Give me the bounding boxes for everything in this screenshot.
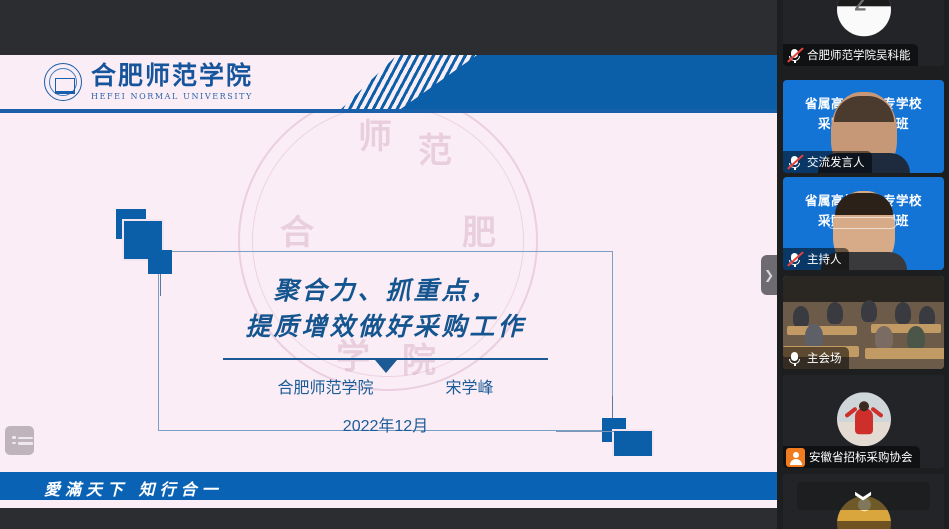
participant-name: 合肥师范学院吴科能	[807, 47, 911, 63]
participant-nametag: 主会场	[783, 347, 849, 369]
avatar	[837, 392, 891, 446]
avatar: Z	[837, 0, 891, 36]
list-icon[interactable]	[5, 426, 34, 455]
mic-muted-icon	[786, 47, 803, 64]
user-orange-icon	[786, 448, 805, 467]
chevron-down-icon[interactable]: ❯	[854, 489, 874, 502]
watermark-char: 合	[280, 205, 314, 254]
university-logo: 合肥师范学院 HEFEI NORMAL UNIVERSITY	[44, 63, 253, 101]
participant-tile[interactable]: 主会场	[783, 276, 944, 369]
conference-screen: 合肥师范学院 HEFEI NORMAL UNIVERSITY 师 范 合 肥 学…	[0, 0, 949, 529]
slide-footer: 愛滿天下 知行合一	[0, 456, 777, 508]
slide-title-block: 聚合力、抓重点， 提质增效做好采购工作 合肥师范学院 宋学峰 2022年12月	[158, 273, 613, 436]
participant-name: 主持人	[807, 251, 842, 267]
university-seal-icon	[44, 63, 82, 101]
mic-muted-icon	[786, 154, 803, 171]
presenter-org: 合肥师范学院	[277, 374, 373, 398]
title-divider	[223, 358, 548, 360]
presenter-name: 宋学峰	[446, 374, 494, 398]
participant-nametag: 交流发言人	[783, 151, 872, 173]
footer-bar: 愛滿天下 知行合一	[0, 472, 777, 500]
presentation-slide: 合肥师范学院 HEFEI NORMAL UNIVERSITY 师 范 合 肥 学…	[0, 55, 777, 508]
slide-body: 师 范 合 肥 学 院	[0, 113, 777, 456]
participant-tile[interactable]: 省属高校和中专学校 采购业务培训班 交流发言人	[783, 80, 944, 173]
presentation-date: 2022年12月	[158, 412, 613, 436]
mic-muted-icon	[786, 251, 803, 268]
participant-tile[interactable]: 安徽省招标采购协会	[783, 375, 944, 468]
footer-motto: 愛滿天下 知行合一	[44, 476, 223, 500]
participant-nametag: 合肥师范学院吴科能	[783, 44, 918, 66]
mic-icon	[786, 350, 803, 367]
university-name-en: HEFEI NORMAL UNIVERSITY	[91, 92, 253, 101]
deco-square	[614, 431, 652, 456]
slide-title-line-2: 提质增效做好采购工作	[158, 309, 613, 345]
watermark-char: 师	[358, 113, 392, 158]
participant-nametag: 安徽省招标采购协会	[783, 446, 920, 468]
participant-nametag: 主持人	[783, 248, 849, 270]
participant-tile[interactable]: 省属高校和中专学校 采购业务培训班 主持人	[783, 177, 944, 270]
chevron-right-icon[interactable]: ❯	[761, 255, 777, 295]
watermark-char: 范	[418, 123, 452, 172]
participant-name: 安徽省招标采购协会	[809, 449, 913, 465]
participant-name: 主会场	[807, 350, 842, 366]
participant-tile[interactable]: ❯	[783, 474, 944, 529]
university-name-cn: 合肥师范学院	[91, 63, 253, 89]
watermark-char: 肥	[462, 205, 496, 254]
deco-square	[148, 250, 172, 274]
shared-content-stage: 合肥师范学院 HEFEI NORMAL UNIVERSITY 师 范 合 肥 学…	[0, 0, 777, 529]
participant-tile[interactable]: Z 合肥师范学院吴科能	[783, 0, 944, 66]
participant-name: 交流发言人	[807, 154, 865, 170]
participant-filmstrip[interactable]: Z 合肥师范学院吴科能 省属高校和中专学校 采购业务培训班	[777, 0, 949, 529]
slide-header: 合肥师范学院 HEFEI NORMAL UNIVERSITY	[0, 55, 777, 113]
slide-title-line-1: 聚合力、抓重点，	[158, 273, 613, 309]
